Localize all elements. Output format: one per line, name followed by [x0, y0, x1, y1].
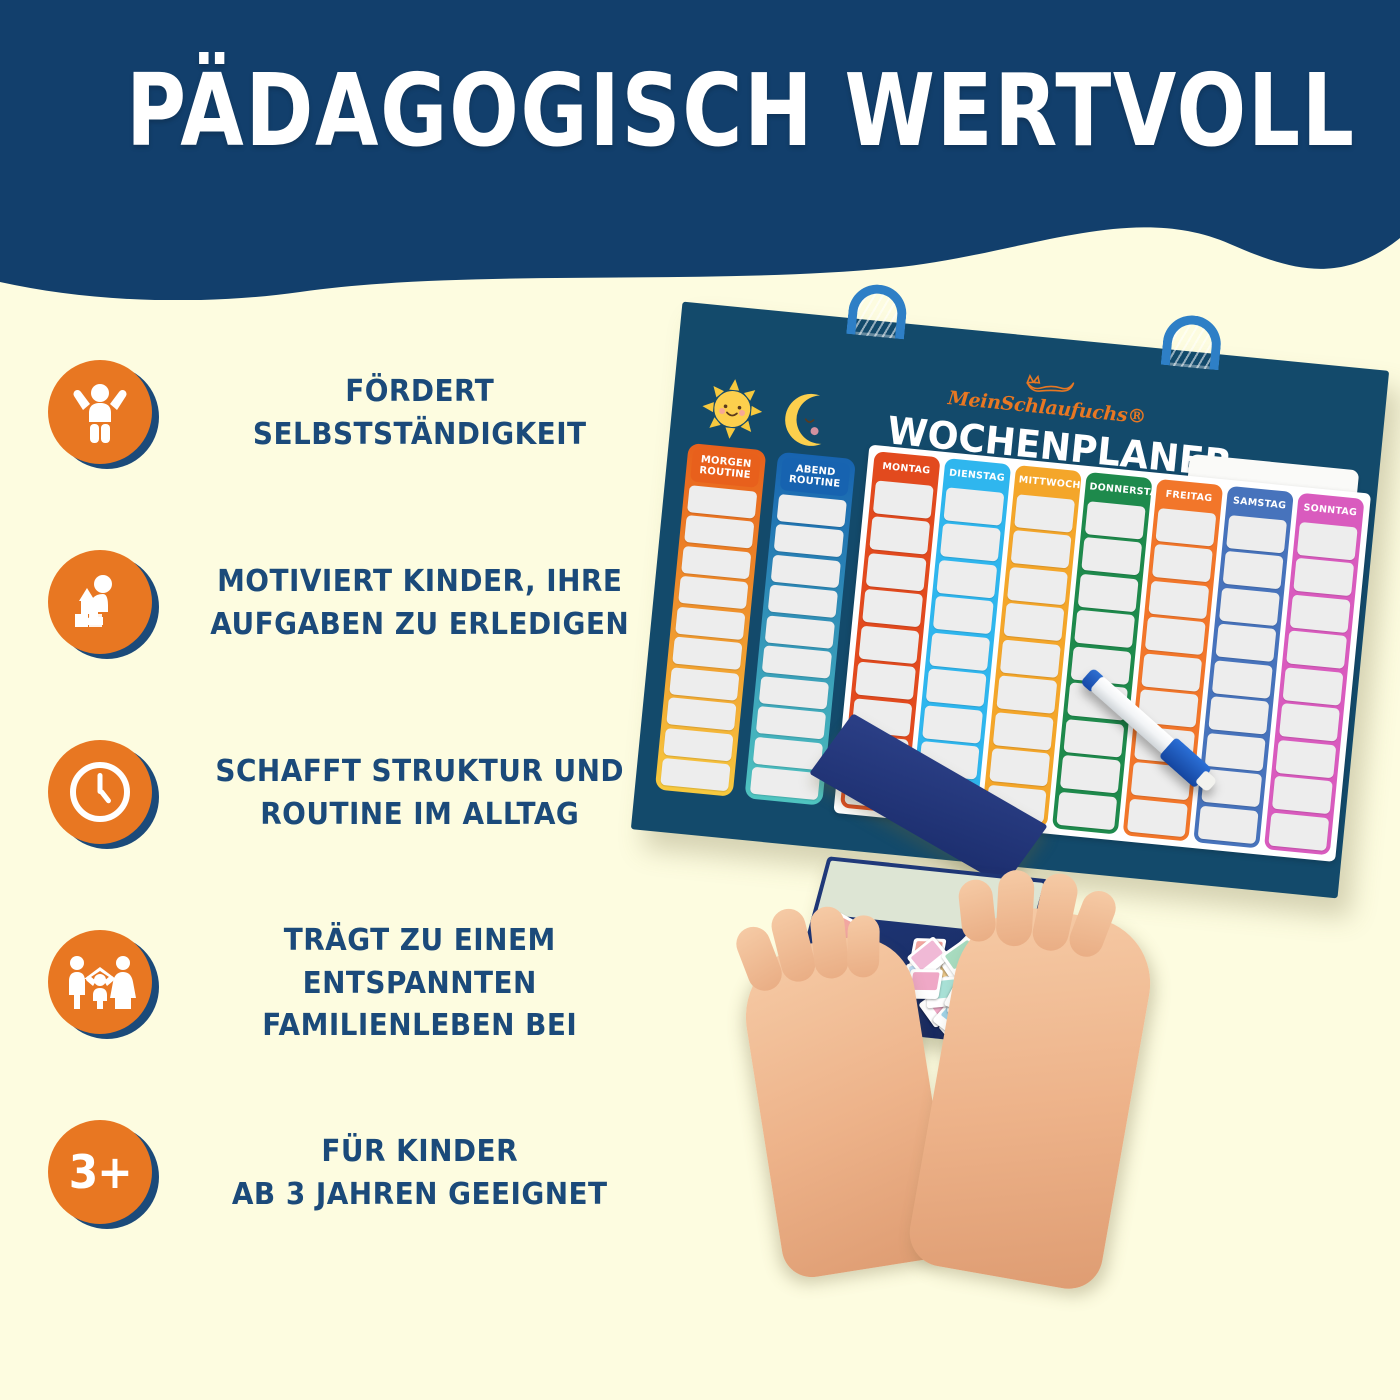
routine-column-label: ABENDROUTINE [780, 457, 851, 497]
routine-slot[interactable] [756, 706, 826, 740]
day-column-label: DONNERSTAG [1088, 476, 1148, 503]
day-slot[interactable] [1156, 508, 1217, 547]
routine-slot[interactable] [762, 646, 832, 680]
day-slot[interactable] [926, 668, 987, 707]
day-slot[interactable] [1219, 587, 1280, 626]
day-slot[interactable] [1275, 739, 1336, 778]
feature-line: FÜR KINDER [187, 1131, 652, 1174]
day-slot[interactable] [922, 705, 983, 744]
day-slot[interactable] [1056, 791, 1117, 830]
feature-item-motiviert-kinder: MOTIVIERT KINDER, IHRE AUFGABEN ZU ERLED… [36, 526, 676, 682]
day-column-label: FREITAG [1159, 483, 1219, 510]
feature-line: AUFGABEN ZU ERLEDIGEN [187, 604, 652, 647]
moon-icon [779, 390, 834, 449]
product-photo: MeinSchlaufuchs® WOCHENPLANER MORGENROUT… [590, 300, 1400, 1400]
day-slot[interactable] [1148, 580, 1209, 619]
routine-slot[interactable] [684, 515, 754, 549]
day-slot[interactable] [1078, 573, 1139, 612]
day-slot[interactable] [1293, 558, 1354, 597]
day-slot[interactable] [1223, 551, 1284, 590]
day-slot[interactable] [1074, 610, 1135, 649]
day-column-label: MONTAG [876, 455, 936, 482]
header-banner: PÄDAGOGISCH WERTVOLL [0, 0, 1400, 300]
routine-slot[interactable] [687, 485, 757, 519]
day-slot[interactable] [1063, 719, 1124, 758]
feature-list: FÖRDERT SELBSTSTÄNDIGKEIT MOTIVIERT KIND… [36, 336, 676, 1286]
day-slot[interactable] [940, 523, 1001, 562]
feature-item-entspanntes-familienleben: TRÄGT ZU EINEM ENTSPANNTEN FAMILIENLEBEN… [36, 906, 676, 1062]
feature-line: SCHAFFT STRUKTUR UND [187, 751, 652, 794]
routine-slot[interactable] [771, 555, 841, 589]
day-slot[interactable] [862, 589, 923, 628]
feature-text: TRÄGT ZU EINEM ENTSPANNTEN FAMILIENLEBEN… [174, 920, 658, 1048]
age-badge-label: 3+ [68, 1145, 131, 1199]
feature-icon-wrap [48, 740, 156, 848]
feature-item-ab-3-jahren: 3+ FÜR KINDER AB 3 JAHREN GEEIGNET [36, 1096, 676, 1252]
day-slot[interactable] [873, 480, 934, 519]
day-slot[interactable] [1085, 501, 1146, 540]
routine-slot[interactable] [666, 698, 736, 732]
day-slot[interactable] [1145, 617, 1206, 656]
routine-slot[interactable] [753, 737, 823, 771]
feature-icon-wrap [48, 930, 156, 1038]
day-slot[interactable] [1198, 805, 1259, 844]
child-building-blocks-icon [48, 550, 152, 654]
rope-handle-right-icon [1161, 313, 1224, 370]
age-badge-icon: 3+ [48, 1120, 152, 1224]
day-slot[interactable] [855, 661, 916, 700]
day-slot[interactable] [1215, 623, 1276, 662]
routine-slot[interactable] [777, 494, 847, 528]
day-slot[interactable] [1290, 594, 1351, 633]
day-slot[interactable] [1152, 544, 1213, 583]
sun-icon [700, 376, 766, 442]
routine-slot[interactable] [669, 667, 739, 701]
day-slot[interactable] [1226, 515, 1287, 554]
day-slot[interactable] [993, 712, 1054, 751]
day-slot[interactable] [859, 625, 920, 664]
magnet-card-image [910, 973, 939, 991]
day-slot[interactable] [1268, 812, 1329, 851]
feature-text: SCHAFFT STRUKTUR UND ROUTINE IM ALLTAG [174, 751, 658, 836]
page-title: PÄDAGOGISCH WERTVOLL [126, 58, 1274, 163]
day-slot[interactable] [989, 748, 1050, 787]
day-slot[interactable] [1011, 530, 1072, 569]
day-slot[interactable] [1014, 494, 1075, 533]
routine-slot[interactable] [675, 606, 745, 640]
day-slot[interactable] [1000, 639, 1061, 678]
finger [995, 869, 1035, 947]
day-column-label: MITTWOCH [1018, 469, 1078, 496]
feature-icon-wrap: 3+ [48, 1120, 156, 1228]
day-column-label: SONNTAG [1300, 497, 1360, 524]
day-slot[interactable] [1272, 776, 1333, 815]
day-slot[interactable] [1060, 755, 1121, 794]
feature-line: MOTIVIERT KINDER, IHRE [187, 561, 652, 604]
day-slot[interactable] [1141, 653, 1202, 692]
routine-slot[interactable] [774, 524, 844, 558]
feature-text: FÜR KINDER AB 3 JAHREN GEEIGNET [174, 1131, 658, 1216]
routine-slot[interactable] [681, 546, 751, 580]
day-slot[interactable] [936, 559, 997, 598]
feature-line: TRÄGT ZU EINEM ENTSPANNTEN [187, 920, 652, 1005]
day-slot[interactable] [1205, 732, 1266, 771]
feature-item-schafft-struktur: SCHAFFT STRUKTUR UND ROUTINE IM ALLTAG [36, 716, 676, 872]
feature-line: AB 3 JAHREN GEEIGNET [187, 1174, 652, 1217]
day-slot[interactable] [1279, 703, 1340, 742]
routine-slot[interactable] [768, 585, 838, 619]
clock-icon [48, 740, 152, 844]
feature-line: ROUTINE IM ALLTAG [187, 794, 652, 837]
day-slot[interactable] [1283, 667, 1344, 706]
day-slot[interactable] [1286, 630, 1347, 669]
finger [847, 915, 880, 978]
day-slot[interactable] [869, 516, 930, 555]
feature-line: SELBSTSTÄNDIGKEIT [187, 414, 652, 457]
day-slot[interactable] [933, 596, 994, 635]
day-column-label: DIENSTAG [947, 462, 1007, 489]
routine-slot[interactable] [672, 637, 742, 671]
routine-slot[interactable] [678, 576, 748, 610]
day-slot[interactable] [1081, 537, 1142, 576]
routine-column-label: MORGENROUTINE [690, 448, 761, 488]
day-slot[interactable] [996, 675, 1057, 714]
day-slot[interactable] [1212, 660, 1273, 699]
feature-text: FÖRDERT SELBSTSTÄNDIGKEIT [174, 371, 658, 456]
day-slot[interactable] [1297, 521, 1358, 560]
feature-icon-wrap [48, 360, 156, 468]
feature-text: MOTIVIERT KINDER, IHRE AUFGABEN ZU ERLED… [174, 561, 658, 646]
day-column-label: SAMSTAG [1230, 490, 1290, 517]
day-slot[interactable] [944, 487, 1005, 526]
day-slot[interactable] [866, 553, 927, 592]
routine-slot[interactable] [759, 676, 829, 710]
family-icon [48, 930, 152, 1034]
feature-line: FÖRDERT [187, 371, 652, 414]
feature-item-foerdert-selbststaendigkeit: FÖRDERT SELBSTSTÄNDIGKEIT [36, 336, 676, 492]
feature-icon-wrap [48, 550, 156, 658]
day-slot[interactable] [1127, 798, 1188, 837]
day-slot[interactable] [1007, 566, 1068, 605]
day-slot[interactable] [1004, 603, 1065, 642]
child-raised-arms-icon [48, 360, 152, 464]
feature-line: FAMILIENLEBEN BEI [187, 1005, 652, 1048]
day-slot[interactable] [929, 632, 990, 671]
day-slot[interactable] [1208, 696, 1269, 735]
routine-slot[interactable] [765, 615, 835, 649]
